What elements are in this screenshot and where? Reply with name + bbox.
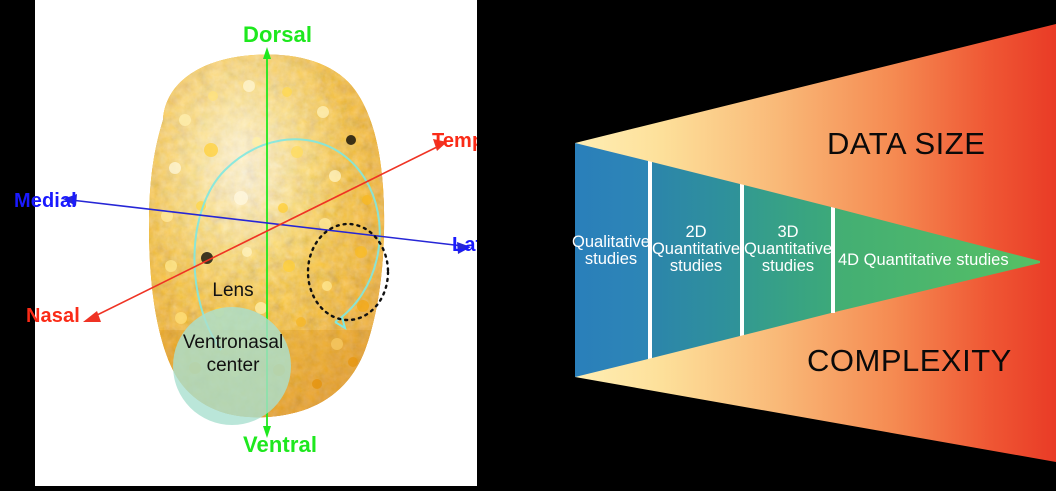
ventronasal-label-line2: center <box>169 355 297 378</box>
left-panel-retina: Lens Ventronasal center <box>35 0 477 486</box>
cone-label-complexity: COMPLEXITY <box>807 343 1012 379</box>
retina-svg <box>35 0 477 486</box>
axis-label-nasal: Nasal <box>26 305 80 328</box>
figure-root: Lens Ventronasal center Dorsal Ventral M… <box>0 0 1056 486</box>
axis-label-medial: Medial <box>14 190 77 213</box>
right-panel-cone: DATA SIZE COMPLEXITY Qualitative studies… <box>477 0 1056 486</box>
ventronasal-label-line1: Ventronasal <box>169 332 297 355</box>
segment-label-3d: 3D Quantitative studies <box>741 224 835 275</box>
segment-label-qualitative: Qualitative studies <box>571 234 651 268</box>
segment-label-2d: 2D Quantitative studies <box>649 224 743 275</box>
nasal-arrowhead <box>83 311 101 322</box>
dorsal-arrowhead <box>263 47 271 59</box>
retina-image: Lens Ventronasal center <box>35 0 477 486</box>
lens-label: Lens <box>173 280 293 302</box>
axis-label-ventral: Ventral <box>243 432 317 458</box>
axis-label-dorsal: Dorsal <box>243 22 312 48</box>
cone-label-data-size: DATA SIZE <box>827 126 985 162</box>
segment-label-4d: 4D Quantitative studies <box>838 252 1038 269</box>
